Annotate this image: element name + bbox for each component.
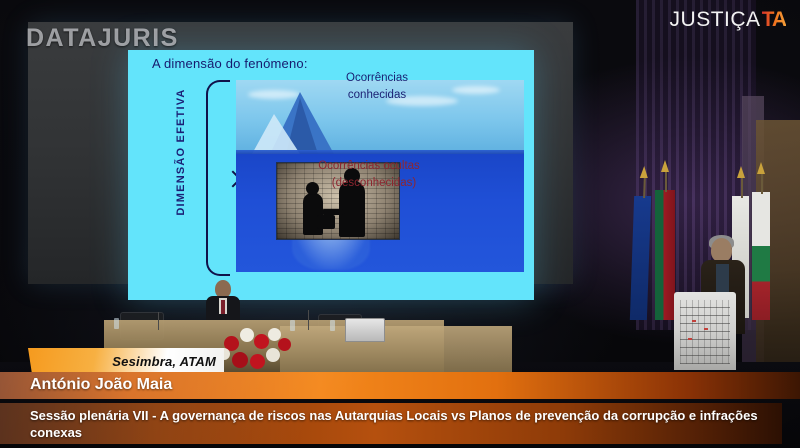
slide-label-hidden: Ocorrências ocultas (desconhecidas) bbox=[306, 158, 432, 193]
iceberg-tip-side bbox=[252, 114, 300, 154]
flag-finial-icon bbox=[639, 166, 647, 178]
flag-finial-icon bbox=[737, 166, 745, 178]
podium-accent-dot bbox=[704, 328, 708, 330]
green-red-flag bbox=[752, 192, 770, 320]
panelist-tie bbox=[221, 300, 225, 314]
cloud-shape bbox=[452, 86, 500, 94]
speaker-name-band: António João Maia bbox=[0, 372, 800, 399]
flower-arrangement bbox=[218, 322, 296, 374]
microphone-icon bbox=[308, 310, 309, 330]
broadcast-video-frame: A dimensão do fenómeno: DIMENSÃO EFETIVA bbox=[0, 0, 800, 448]
water-glass bbox=[114, 318, 119, 329]
speaker-head bbox=[711, 238, 732, 262]
location-tag: Sesimbra, ATAM bbox=[28, 348, 224, 374]
slide-label-known: Ocorrências conhecidas bbox=[324, 70, 430, 105]
curly-brace-icon bbox=[206, 80, 230, 276]
channel-logo-text: JUSTIÇA bbox=[670, 8, 761, 32]
podium-accent-dot bbox=[688, 338, 692, 340]
location-tag-text: Sesimbra, ATAM bbox=[112, 354, 216, 369]
session-title-band: Sessão plenária VII - A governança de ri… bbox=[0, 403, 782, 444]
presentation-slide: A dimensão do fenómeno: DIMENSÃO EFETIVA bbox=[128, 50, 534, 300]
projection-screen-frame: A dimensão do fenómeno: DIMENSÃO EFETIVA bbox=[28, 22, 573, 284]
panel-table-right-section bbox=[280, 326, 512, 372]
flower bbox=[278, 338, 291, 351]
slide-label-hidden-line1: Ocorrências ocultas bbox=[318, 160, 420, 172]
podium-grille bbox=[680, 300, 730, 364]
flag-finial-icon bbox=[757, 162, 765, 174]
channel-logo: JUSTIÇA TA bbox=[670, 8, 786, 32]
channel-logo-mark: TA bbox=[762, 8, 786, 32]
water-glass bbox=[330, 320, 335, 331]
session-title: Sessão plenária VII - A governança de ri… bbox=[30, 407, 772, 441]
white-podium bbox=[674, 292, 736, 370]
speaker-name: António João Maia bbox=[30, 376, 172, 394]
flag-pole bbox=[761, 172, 763, 194]
flower bbox=[240, 328, 254, 342]
flag-pole bbox=[741, 176, 743, 198]
laptop bbox=[345, 318, 385, 342]
flower bbox=[254, 334, 269, 349]
slide-title: A dimensão do fenómeno: bbox=[152, 56, 308, 71]
flag-pole bbox=[665, 170, 667, 192]
slide-axis-label: DIMENSÃO EFETIVA bbox=[175, 77, 187, 227]
flower bbox=[250, 354, 265, 369]
flag-finial-icon bbox=[661, 160, 669, 172]
slide-label-hidden-line2: (desconhecidas) bbox=[306, 175, 432, 192]
portugal-flag bbox=[655, 190, 675, 320]
briefcase-icon bbox=[317, 215, 335, 229]
podium-accent-dot bbox=[692, 320, 696, 322]
microphone-icon bbox=[158, 312, 159, 330]
flower bbox=[232, 352, 248, 368]
flower bbox=[266, 348, 280, 362]
